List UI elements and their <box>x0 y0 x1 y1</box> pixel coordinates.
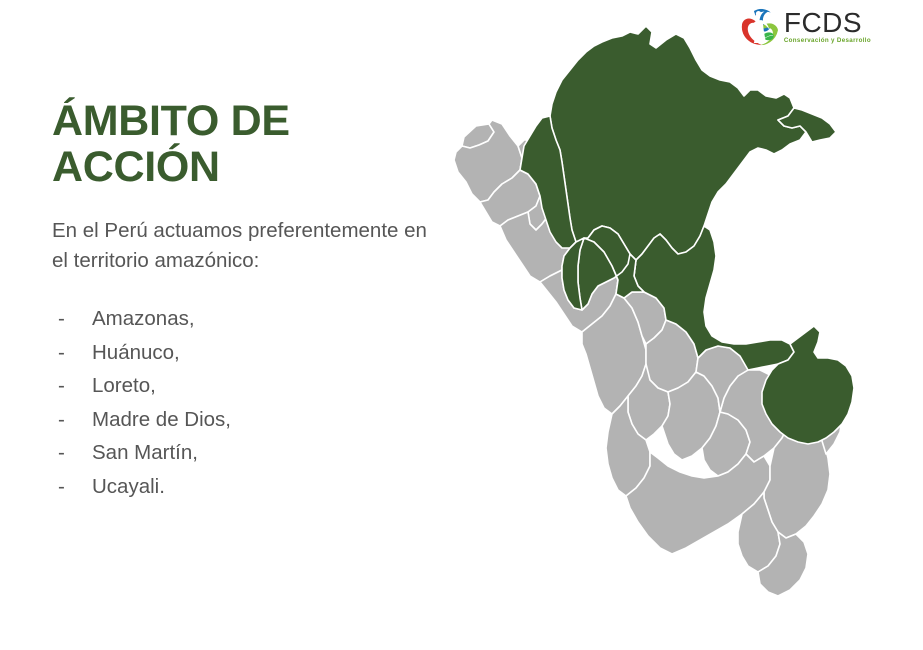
list-item: - Huánuco, <box>52 343 452 364</box>
bullet-marker: - <box>52 376 92 397</box>
bullet-marker: - <box>52 443 92 464</box>
bullet-marker: - <box>52 343 92 364</box>
intro-paragraph: En el Perú actuamos preferentemente en e… <box>52 216 447 275</box>
region-label: Amazonas, <box>92 309 195 330</box>
region-label: Madre de Dios, <box>92 410 231 431</box>
region-label: Huánuco, <box>92 343 180 364</box>
peru-map <box>432 14 892 634</box>
page-title: ÁMBITO DE ACCIÓN <box>52 98 452 191</box>
region-label: Loreto, <box>92 376 156 397</box>
content-column: ÁMBITO DE ACCIÓN En el Perú actuamos pre… <box>52 98 452 510</box>
region-label: Ucayali. <box>92 477 165 498</box>
bullet-marker: - <box>52 477 92 498</box>
region-list: - Amazonas, - Huánuco, - Loreto, - Madre… <box>52 309 452 497</box>
department-loreto <box>550 26 806 260</box>
bullet-marker: - <box>52 410 92 431</box>
list-item: - Madre de Dios, <box>52 410 452 431</box>
list-item: - Amazonas, <box>52 309 452 330</box>
list-item: - San Martín, <box>52 443 452 464</box>
peru-map-svg <box>432 14 892 634</box>
bullet-marker: - <box>52 309 92 330</box>
list-item: - Ucayali. <box>52 477 452 498</box>
list-item: - Loreto, <box>52 376 452 397</box>
slide: FCDS Conservación y Desarrollo ÁMBITO DE… <box>0 0 923 650</box>
region-label: San Martín, <box>92 443 198 464</box>
